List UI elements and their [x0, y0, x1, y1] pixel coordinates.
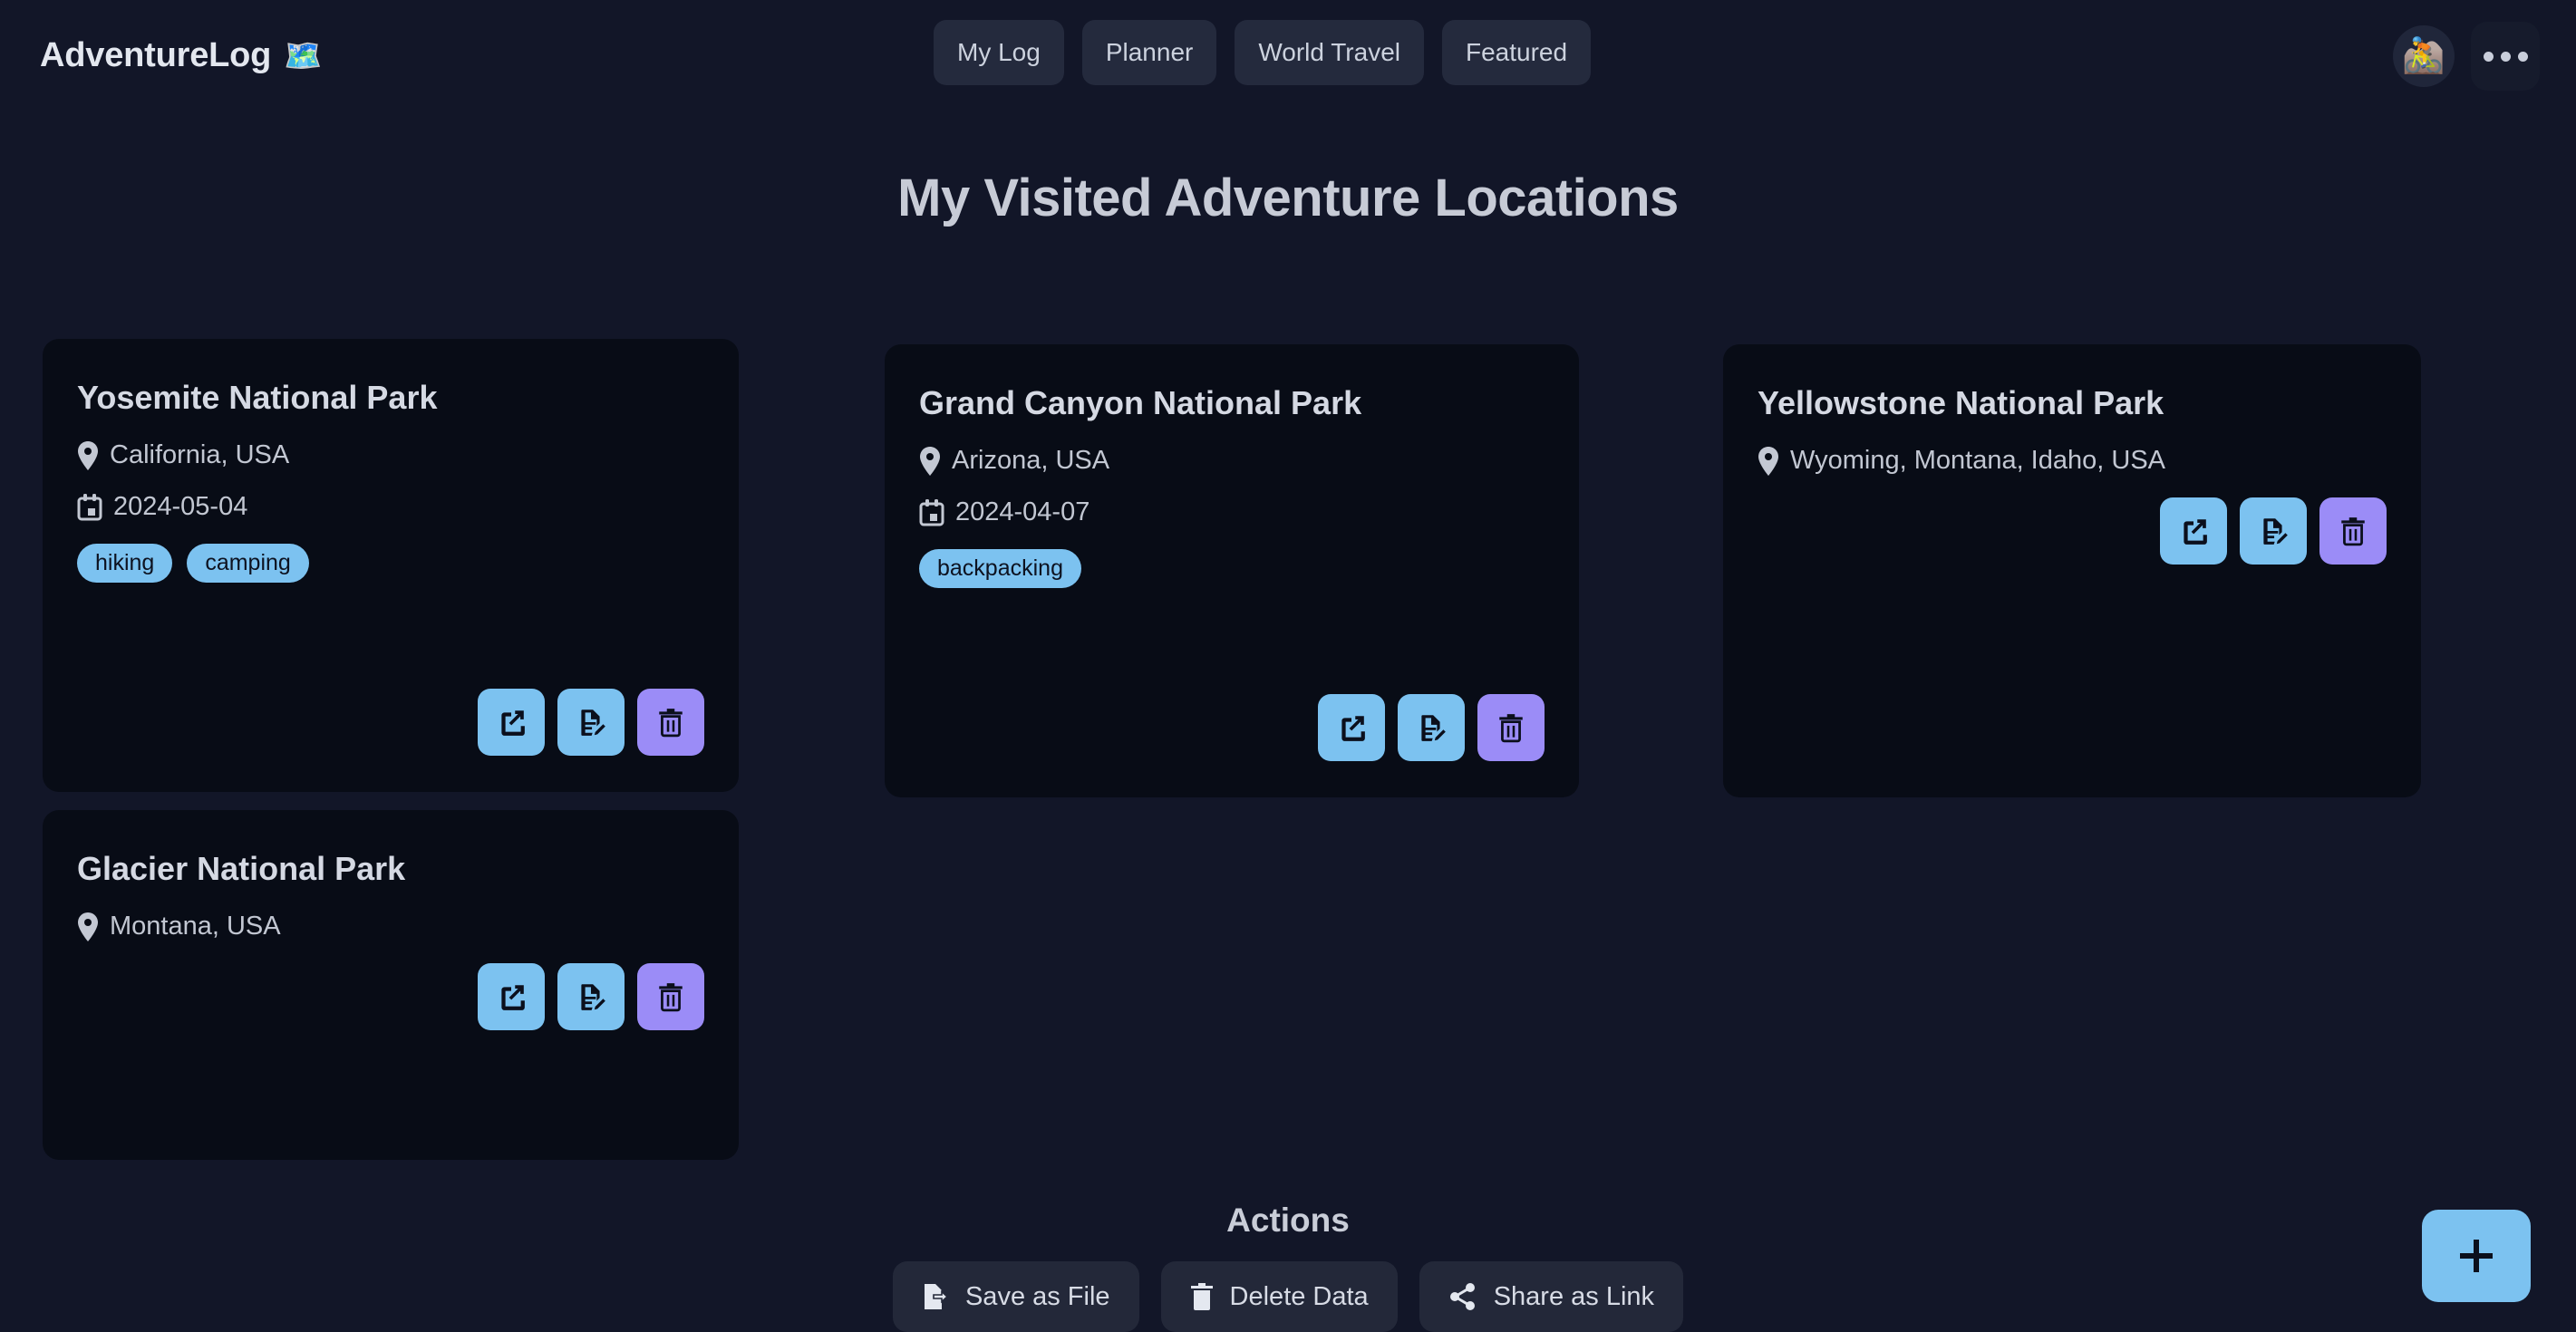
card-location: California, USA [77, 440, 704, 470]
brand-name: AdventureLog [40, 36, 271, 75]
adventure-card[interactable]: Grand Canyon National Park Arizona, USA … [885, 344, 1579, 797]
card-date-text: 2024-04-07 [955, 497, 1089, 527]
share-as-link-label: Share as Link [1494, 1282, 1654, 1312]
delete-button[interactable] [637, 963, 704, 1030]
main-navigation: My Log Planner World Travel Featured [934, 20, 1591, 85]
top-bar: AdventureLog 🗺️ My Log Planner World Tra… [0, 0, 2576, 134]
delete-data-label: Delete Data [1230, 1282, 1369, 1312]
avatar[interactable]: 🚵 [2393, 25, 2455, 87]
delete-button[interactable] [1477, 694, 1545, 761]
delete-data-button[interactable]: Delete Data [1161, 1261, 1398, 1332]
brand-logo[interactable]: AdventureLog 🗺️ [40, 36, 322, 75]
trash-icon [1190, 1282, 1214, 1311]
tag-chip[interactable]: hiking [77, 544, 172, 583]
card-location: Arizona, USA [919, 446, 1545, 476]
page-title: My Visited Adventure Locations [880, 167, 1696, 231]
card-title: Grand Canyon National Park [919, 384, 1545, 422]
calendar-icon [919, 499, 944, 526]
delete-button[interactable] [2319, 497, 2387, 565]
adventure-card[interactable]: Yellowstone National Park Wyoming, Monta… [1723, 344, 2421, 797]
actions-section: Actions Save as File Delete Data Share a… [789, 1202, 1787, 1332]
tab-featured[interactable]: Featured [1442, 20, 1591, 85]
adventure-card[interactable]: Glacier National Park Montana, USA [43, 810, 739, 1160]
card-date: 2024-04-07 [919, 497, 1545, 527]
map-pin-icon [1758, 447, 1779, 476]
world-map-icon: 🗺️ [284, 41, 322, 72]
tab-world-travel[interactable]: World Travel [1235, 20, 1424, 85]
edit-document-button[interactable] [557, 689, 625, 756]
card-action-bar [919, 678, 1545, 761]
save-as-file-button[interactable]: Save as File [893, 1261, 1139, 1332]
share-icon [1448, 1282, 1477, 1311]
add-adventure-button[interactable] [2422, 1210, 2531, 1302]
share-as-link-button[interactable]: Share as Link [1419, 1261, 1683, 1332]
adventure-card[interactable]: Yosemite National Park California, USA 2… [43, 339, 739, 792]
top-bar-right: 🚵 [2393, 22, 2540, 91]
open-external-button[interactable] [2160, 497, 2227, 565]
edit-document-button[interactable] [2240, 497, 2307, 565]
plus-icon [2460, 1240, 2493, 1272]
card-title: Yosemite National Park [77, 379, 704, 417]
card-location-text: Wyoming, Montana, Idaho, USA [1790, 446, 2165, 476]
map-pin-icon [77, 441, 99, 470]
card-location: Montana, USA [77, 912, 704, 941]
card-action-bar [77, 963, 704, 1030]
edit-document-button[interactable] [557, 963, 625, 1030]
calendar-icon [77, 494, 102, 521]
open-external-button[interactable] [478, 689, 545, 756]
card-date: 2024-05-04 [77, 492, 704, 522]
card-location-text: Montana, USA [110, 912, 281, 941]
card-location: Wyoming, Montana, Idaho, USA [1758, 446, 2387, 476]
map-pin-icon [77, 912, 99, 941]
actions-row: Save as File Delete Data Share as Link [789, 1261, 1787, 1332]
more-menu-button[interactable] [2471, 22, 2540, 91]
tab-my-log[interactable]: My Log [934, 20, 1064, 85]
card-tags: hiking camping [77, 544, 704, 583]
actions-heading: Actions [789, 1202, 1787, 1240]
tag-chip[interactable]: camping [187, 544, 309, 583]
card-action-bar [1758, 497, 2387, 565]
ellipsis-icon [2518, 52, 2528, 62]
open-external-button[interactable] [478, 963, 545, 1030]
card-tags: backpacking [919, 549, 1545, 588]
edit-document-button[interactable] [1398, 694, 1465, 761]
save-as-file-label: Save as File [965, 1282, 1110, 1312]
tag-chip[interactable]: backpacking [919, 549, 1081, 588]
tab-planner[interactable]: Planner [1082, 20, 1217, 85]
ellipsis-icon [2484, 52, 2494, 62]
card-date-text: 2024-05-04 [113, 492, 247, 522]
delete-button[interactable] [637, 689, 704, 756]
card-location-text: California, USA [110, 440, 289, 470]
file-export-icon [922, 1282, 949, 1311]
card-action-bar [77, 672, 704, 756]
open-external-button[interactable] [1318, 694, 1385, 761]
card-location-text: Arizona, USA [952, 446, 1109, 476]
mountain-biker-icon: 🚵 [2402, 36, 2445, 76]
card-title: Yellowstone National Park [1758, 384, 2387, 422]
map-pin-icon [919, 447, 941, 476]
card-title: Glacier National Park [77, 850, 704, 888]
ellipsis-icon [2501, 52, 2511, 62]
